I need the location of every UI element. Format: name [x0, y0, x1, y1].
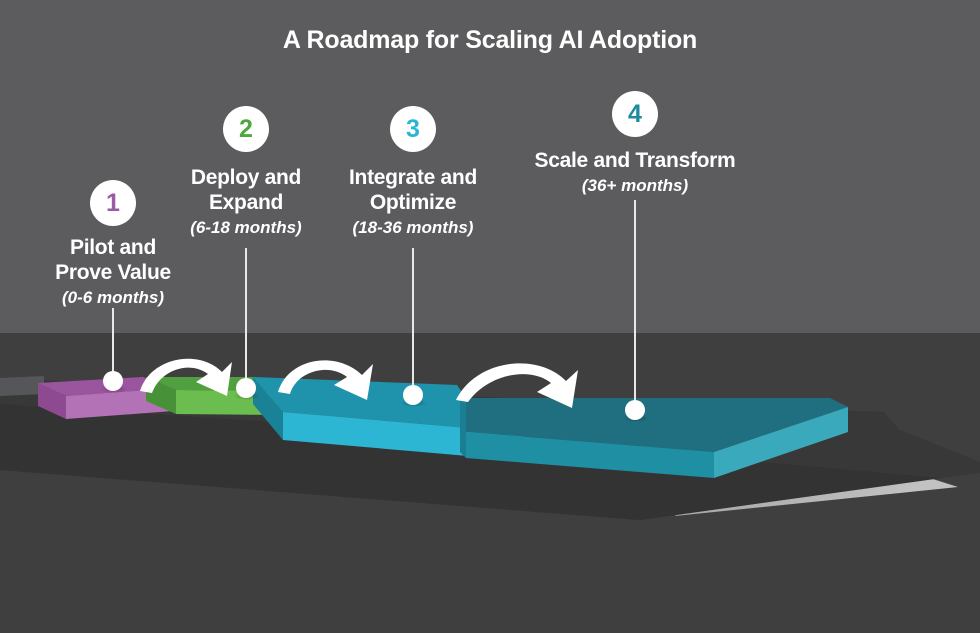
left-platform-stub [0, 376, 44, 396]
step-1-number-badge[interactable]: 1 [90, 180, 136, 226]
step-4-number: 4 [628, 100, 642, 129]
infographic-canvas: A Roadmap for Scaling AI Adoption 1 Pilo… [0, 0, 980, 633]
step-3-number-badge[interactable]: 3 [390, 106, 436, 152]
marker-dot-icon [403, 385, 423, 405]
step-2-number: 2 [239, 115, 253, 144]
page-title: A Roadmap for Scaling AI Adoption [0, 26, 980, 55]
marker-dot-icon [625, 400, 645, 420]
marker-dot-icon [236, 378, 256, 398]
step-4-number-badge[interactable]: 4 [612, 91, 658, 137]
roadmap-scene [0, 0, 980, 633]
block-4-left-cap [460, 398, 466, 458]
step-1-number: 1 [106, 189, 120, 218]
step-3-number: 3 [406, 115, 420, 144]
step-2-number-badge[interactable]: 2 [223, 106, 269, 152]
marker-dot-icon [103, 371, 123, 391]
